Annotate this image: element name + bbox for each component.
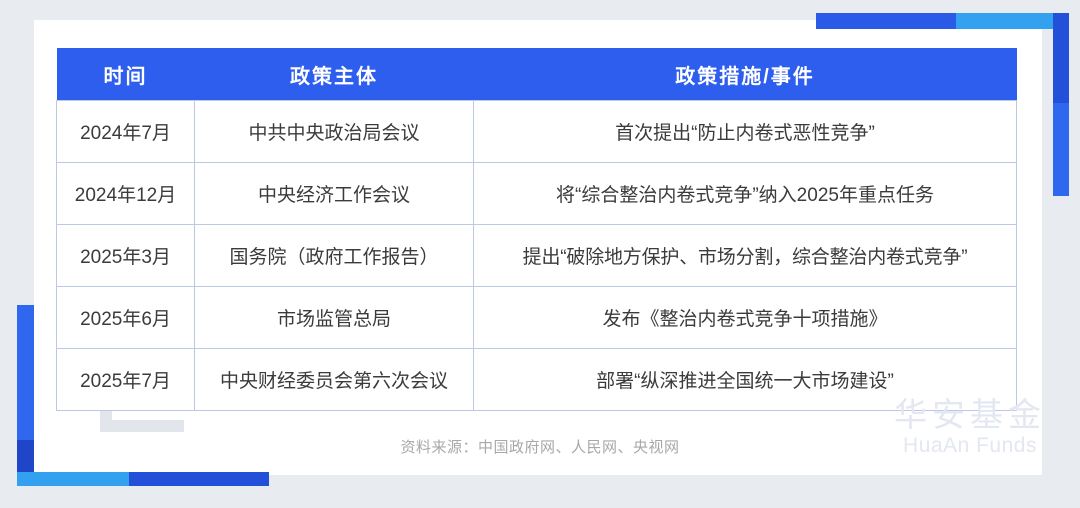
decoration-bottom-bar-light <box>17 472 129 486</box>
decoration-top-bar-light <box>956 13 1056 29</box>
brand-watermark-cn: 华安基金 <box>894 398 1046 433</box>
table-row: 2025年6月 市场监管总局 发布《整治内卷式竞争十项措施》 <box>57 287 1017 349</box>
table-row: 2024年12月 中央经济工作会议 将“综合整治内卷式竞争”纳入2025年重点任… <box>57 163 1017 225</box>
table-header-row: 时间 政策主体 政策措施/事件 <box>57 48 1017 101</box>
cell-measure: 发布《整治内卷式竞争十项措施》 <box>474 287 1017 349</box>
decoration-top-bar-dark <box>816 13 956 29</box>
table-row: 2024年7月 中共中央政治局会议 首次提出“防止内卷式恶性竞争” <box>57 101 1017 163</box>
policy-timeline-table-wrapper: 时间 政策主体 政策措施/事件 2024年7月 中共中央政治局会议 首次提出“防… <box>56 48 1016 411</box>
brand-watermark-en: HuaAn Funds <box>894 435 1046 457</box>
cell-subject: 中央财经委员会第六次会议 <box>195 349 474 411</box>
cell-measure: 提出“破除地方保护、市场分割，综合整治内卷式竞争” <box>474 225 1017 287</box>
decoration-right-bar-bottom <box>1053 103 1069 196</box>
cell-time: 2024年12月 <box>57 163 195 225</box>
table-body: 2024年7月 中共中央政治局会议 首次提出“防止内卷式恶性竞争” 2024年1… <box>57 101 1017 411</box>
cell-time: 2025年7月 <box>57 349 195 411</box>
decoration-right-bar-top <box>1053 13 1069 103</box>
table-row: 2025年7月 中央财经委员会第六次会议 部署“纵深推进全国统一大市场建设” <box>57 349 1017 411</box>
table-header: 时间 政策主体 政策措施/事件 <box>57 48 1017 101</box>
cell-time: 2025年6月 <box>57 287 195 349</box>
column-header-subject: 政策主体 <box>195 48 474 101</box>
cell-subject: 中央经济工作会议 <box>195 163 474 225</box>
cell-measure: 将“综合整治内卷式竞争”纳入2025年重点任务 <box>474 163 1017 225</box>
column-header-time: 时间 <box>57 48 195 101</box>
cell-measure: 首次提出“防止内卷式恶性竞争” <box>474 101 1017 163</box>
slide-canvas: 时间 政策主体 政策措施/事件 2024年7月 中共中央政治局会议 首次提出“防… <box>0 0 1080 508</box>
cell-subject: 市场监管总局 <box>195 287 474 349</box>
decoration-bottom-bar-dark <box>129 472 269 486</box>
policy-timeline-table: 时间 政策主体 政策措施/事件 2024年7月 中共中央政治局会议 首次提出“防… <box>56 48 1017 411</box>
cell-time: 2024年7月 <box>57 101 195 163</box>
cell-time: 2025年3月 <box>57 225 195 287</box>
column-header-measure: 政策措施/事件 <box>474 48 1017 101</box>
table-row: 2025年3月 国务院（政府工作报告） 提出“破除地方保护、市场分割，综合整治内… <box>57 225 1017 287</box>
cell-subject: 中共中央政治局会议 <box>195 101 474 163</box>
brand-watermark: 华安基金 HuaAn Funds <box>894 398 1046 457</box>
cell-subject: 国务院（政府工作报告） <box>195 225 474 287</box>
